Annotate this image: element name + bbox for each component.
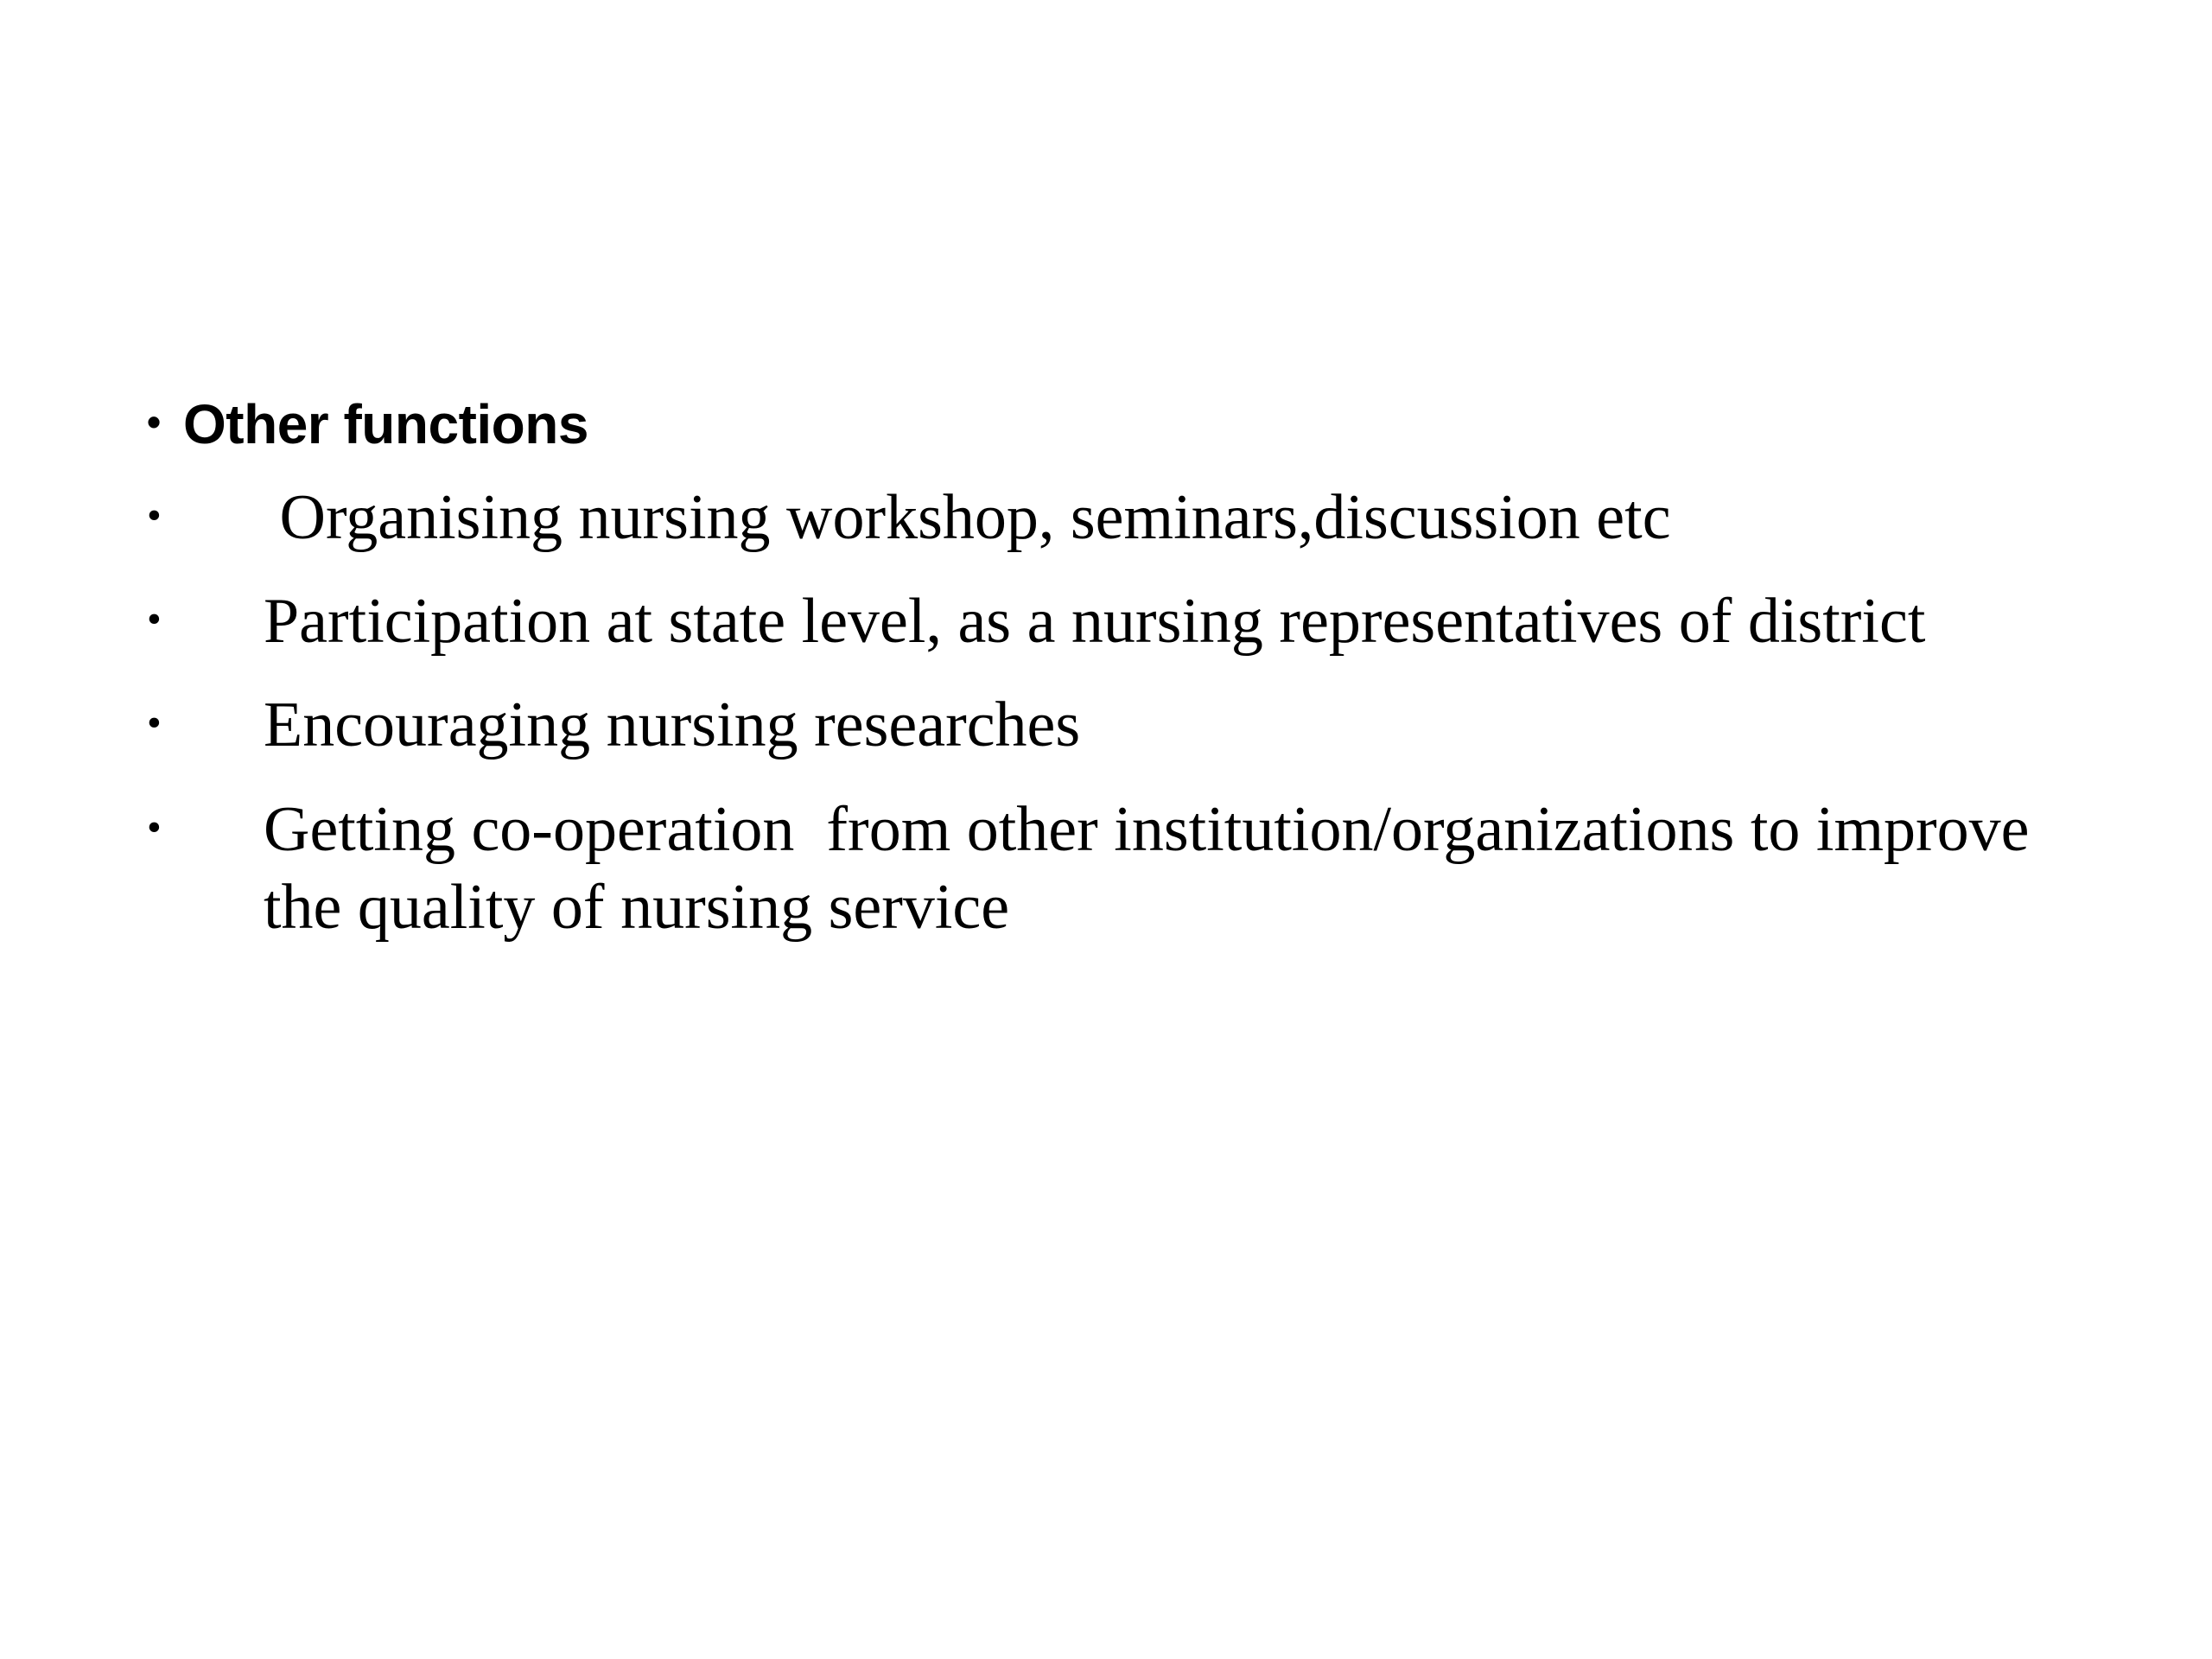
bullet-glyph-icon: • (147, 393, 183, 451)
bullet-item-cooperation: • Getting co-operation from other instit… (147, 791, 2074, 947)
bullet-text-cooperation: Getting co-operation from other institut… (264, 791, 2074, 947)
bullet-glyph-icon: • (147, 791, 264, 864)
slide-content-body: • Other functions • Organising nursing w… (147, 393, 2074, 962)
bullet-item-encouraging: • Encouraging nursing researches (147, 686, 2074, 764)
bullet-item-participation: • Participation at state level, as a nur… (147, 582, 2074, 660)
slide-canvas: • Other functions • Organising nursing w… (0, 0, 2212, 1659)
bullet-glyph-icon: • (147, 479, 264, 552)
bullet-text-organising: Organising nursing workshop, seminars,di… (264, 479, 2074, 556)
bullet-text-encouraging: Encouraging nursing researches (264, 686, 2074, 764)
bullet-item-organising: • Organising nursing workshop, seminars,… (147, 479, 2074, 556)
bullet-text-participation: Participation at state level, as a nursi… (264, 582, 2074, 660)
bullet-glyph-icon: • (147, 582, 264, 656)
bullet-item-heading: • Other functions (147, 393, 2074, 456)
heading-text: Other functions (183, 393, 2074, 456)
bullet-glyph-icon: • (147, 686, 264, 760)
